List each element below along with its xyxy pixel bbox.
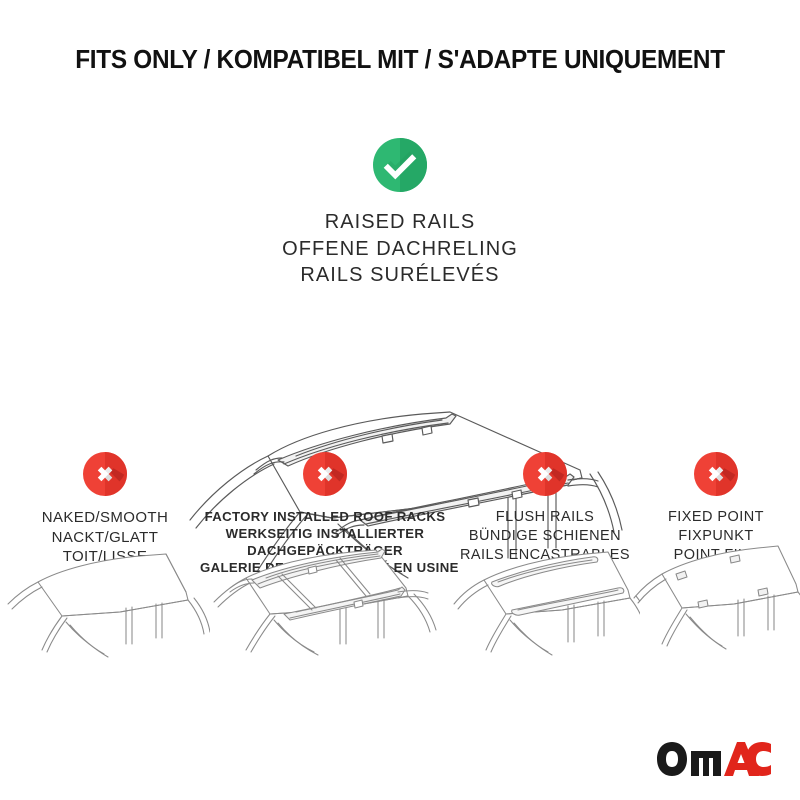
compatible-section: RAISED RAILS OFFENE DACHRELING RAILS SUR… (0, 138, 800, 289)
check-circle-icon (373, 138, 427, 192)
label-en: FLUSH RAILS (450, 508, 640, 527)
compatible-labels: RAISED RAILS OFFENE DACHRELING RAILS SUR… (0, 209, 800, 289)
incompatible-item-factory-racks: FACTORY INSTALLED ROOF RACKS WERKSEITIG … (200, 452, 450, 577)
label-en: FACTORY INSTALLED ROOF RACKS (200, 508, 450, 525)
label-en: FIXED POINT (632, 508, 800, 527)
omac-logo (654, 740, 772, 778)
x-circle-icon (694, 452, 738, 496)
label-en: NAKED/SMOOTH (0, 508, 210, 528)
x-circle-icon (303, 452, 347, 496)
incompatible-item-flush-rails: FLUSH RAILS BÜNDIGE SCHIENEN RAILS ENCAS… (450, 452, 640, 565)
x-circle-icon (83, 452, 127, 496)
car-roof-flush-rails-illustration (450, 548, 640, 668)
page-title: FITS ONLY / KOMPATIBEL MIT / S'ADAPTE UN… (18, 46, 782, 75)
label-de: NACKT/GLATT (0, 528, 210, 548)
incompatible-item-naked-smooth: NAKED/SMOOTH NACKT/GLATT TOIT/LISSE (0, 452, 210, 567)
x-circle-icon (523, 452, 567, 496)
header: FITS ONLY / KOMPATIBEL MIT / S'ADAPTE UN… (0, 46, 800, 75)
compatible-label-de: OFFENE DACHRELING (0, 236, 800, 263)
compatible-label-en: RAISED RAILS (0, 209, 800, 236)
car-roof-factory-racks-illustration (200, 548, 450, 668)
label-de-1: WERKSEITIG INSTALLIERTER (200, 525, 450, 542)
incompatible-item-fixed-point: FIXED POINT FIXPUNKT POINT FIXE (632, 452, 800, 565)
compatible-label-fr: RAILS SURÉLEVÉS (0, 262, 800, 289)
incompatible-section: NAKED/SMOOTH NACKT/GLATT TOIT/LISSE (0, 452, 800, 702)
label-de: BÜNDIGE SCHIENEN (450, 527, 640, 546)
car-roof-naked-smooth-illustration (0, 548, 210, 668)
car-roof-fixed-point-illustration (632, 540, 800, 660)
